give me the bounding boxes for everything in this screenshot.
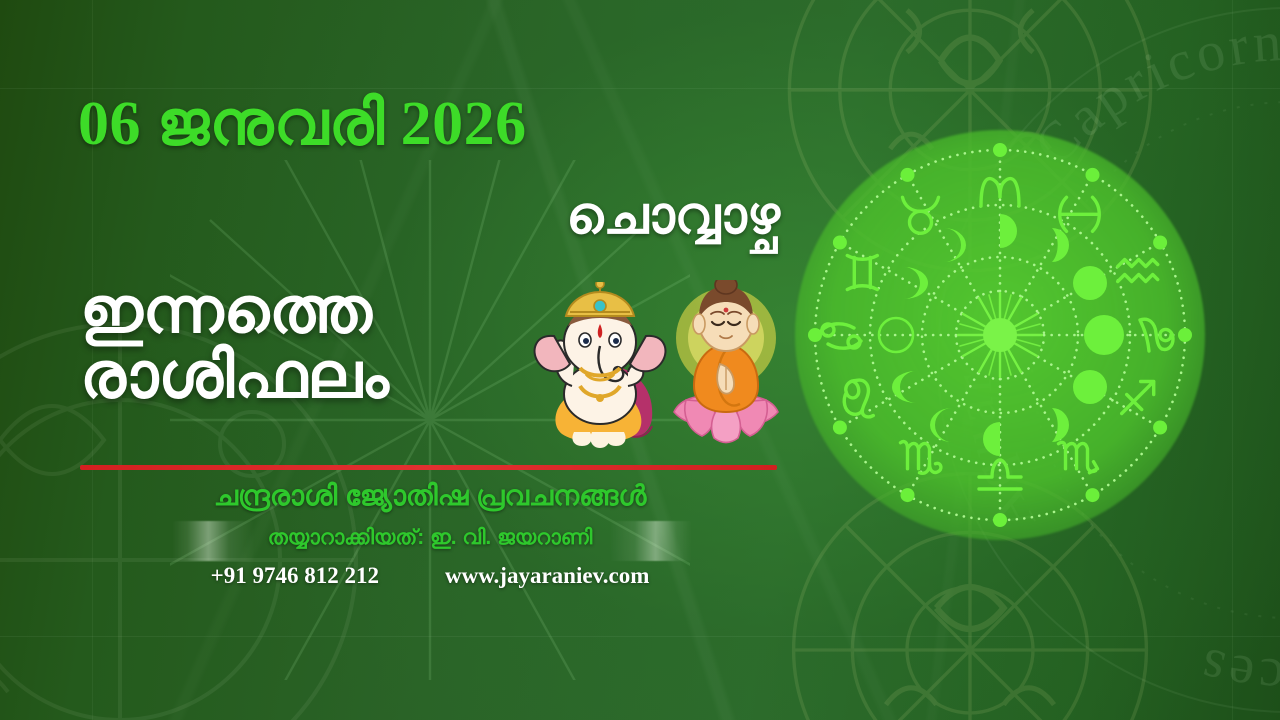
page-title-line1: ഇന്നത്തെ — [80, 274, 372, 346]
zodiac-wheel: .dot { fill:#6bf03a; } .dline { stroke:#… — [795, 130, 1205, 540]
zodiac-sign-taurus — [903, 197, 939, 233]
moon-phase-last-quarter — [983, 422, 1000, 456]
contact-row: +91 9746 812 212 www.jayaraniev.com — [0, 563, 860, 589]
svg-text:Pisces: Pisces — [1190, 635, 1280, 710]
moon-phase-waning-gibbous-2 — [1052, 408, 1069, 442]
date-text: 06 ജനുവരി 2026 — [78, 92, 738, 157]
zodiac-sign-gemini — [847, 256, 877, 290]
wheel-graphic: .dot { fill:#6bf03a; } .dline { stroke:#… — [795, 130, 1205, 540]
page-title-line2: രാശിഫലം — [80, 343, 560, 408]
deity-illustrations — [520, 280, 790, 460]
moon-phase-full-moon — [1084, 315, 1124, 355]
buddha-icon — [666, 280, 786, 452]
moon-phase-waxing-gibbous — [1052, 228, 1069, 262]
zodiac-sign-leo — [844, 380, 873, 417]
website-url[interactable]: www.jayaraniev.com — [445, 563, 649, 589]
moon-phase-first-quarter — [1000, 214, 1017, 248]
zodiac-sign-capricorn — [1140, 319, 1173, 351]
phone-number[interactable]: +91 9746 812 212 — [211, 563, 379, 589]
moon-phase-waning-gibbous — [1073, 370, 1107, 404]
ganesha-icon — [530, 282, 670, 454]
zodiac-sign-aries — [981, 179, 1019, 206]
moon-phase-thin-crescent — [892, 371, 916, 403]
zodiac-sign-cancer — [821, 324, 861, 348]
red-divider — [80, 465, 777, 470]
page-title: ഇന്നത്തെ രാശിഫലം — [80, 278, 560, 409]
weekday-text: ചൊവ്വാഴ്ച — [0, 188, 780, 245]
credit-text: തയ്യാറാക്കിയത്: ഇ. വി. ജയറാണി — [0, 526, 860, 550]
sun-icon — [958, 293, 1042, 377]
moon-phase-waxing-crescent — [904, 267, 928, 299]
horoscope-banner: Aries Pisces Aquarius Capricorn Scorpio … — [0, 0, 1280, 720]
zodiac-sign-sagittarius — [1122, 382, 1154, 414]
zodiac-sign-aquarius — [1118, 260, 1158, 282]
zodiac-sign-pisces — [1060, 197, 1100, 231]
subtitle-text: ചന്ദ്രരാശി ജ്യോതിഷ പ്രവചനങ്ങൾ — [0, 480, 860, 513]
moon-phase-near-full — [1073, 266, 1107, 300]
moon-phase-waning-crescent — [930, 408, 952, 442]
zodiac-sign-scorpio — [1059, 442, 1098, 472]
